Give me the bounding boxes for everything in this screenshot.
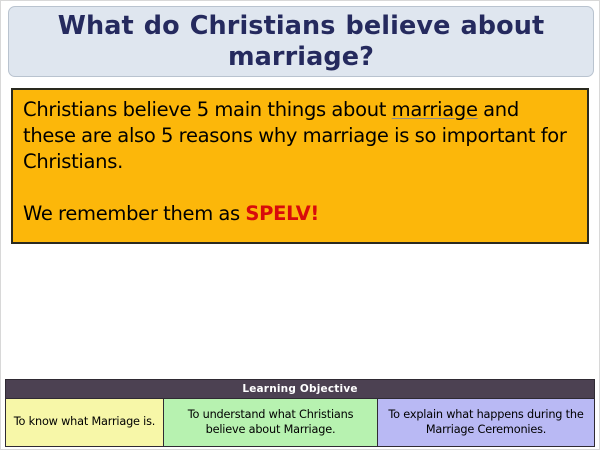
learning-objective-cell-2-text: To understand what Christians believe ab…: [171, 408, 370, 438]
page-title: What do Christians believe about marriag…: [27, 11, 575, 71]
learning-objective-cell-1: To know what Marriage is.: [6, 399, 164, 446]
learning-objective-table: Learning Objective To know what Marriage…: [5, 379, 595, 447]
body-paragraph-1: Christians believe 5 main things about m…: [23, 97, 577, 175]
learning-objective-cell-3-text: To explain what happens during the Marri…: [385, 408, 587, 438]
learning-objective-header: Learning Objective: [6, 380, 594, 399]
body-text-lead: Christians believe 5 main things about: [23, 98, 392, 121]
body-paragraph-2: We remember them as SPELV!: [23, 201, 577, 227]
slide-title-banner: What do Christians believe about marriag…: [8, 6, 594, 77]
acronym-prefix: We remember them as: [23, 202, 245, 225]
paragraph-spacer: [23, 175, 577, 201]
learning-objective-cell-1-text: To know what Marriage is.: [14, 415, 155, 430]
learning-objective-row: To know what Marriage is. To understand …: [6, 399, 594, 446]
acronym-spelv: SPELV!: [245, 202, 319, 225]
learning-objective-cell-2: To understand what Christians believe ab…: [164, 399, 378, 446]
main-content-box: Christians believe 5 main things about m…: [11, 88, 589, 244]
body-keyword-marriage: marriage: [392, 98, 478, 121]
learning-objective-header-label: Learning Objective: [242, 383, 357, 395]
learning-objective-cell-3: To explain what happens during the Marri…: [378, 399, 594, 446]
blank-content-area: [5, 245, 595, 378]
slide-canvas: What do Christians believe about marriag…: [0, 0, 600, 450]
